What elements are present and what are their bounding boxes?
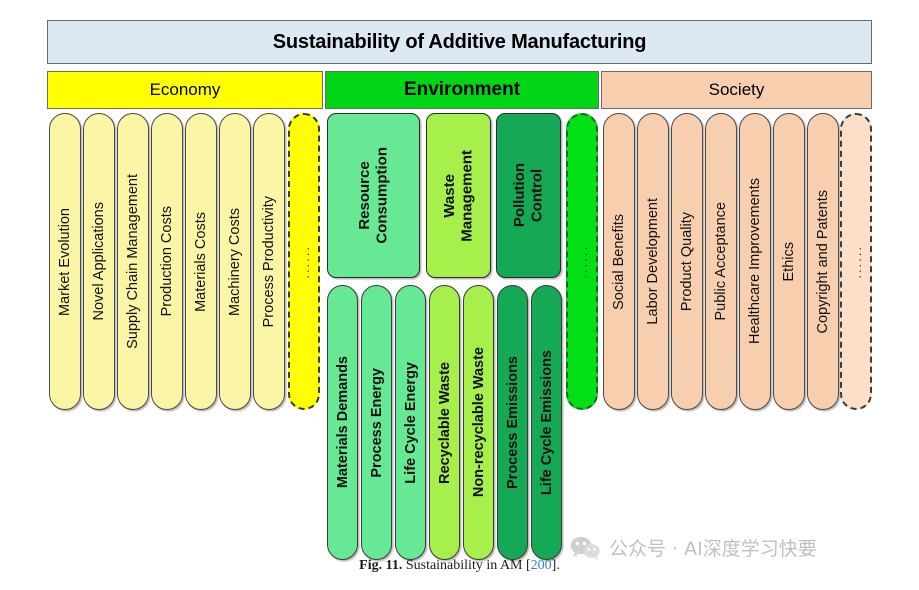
figure-caption-suffix: ]. (552, 558, 560, 573)
society-item: Healthcare Improvements (739, 113, 771, 410)
pillar-header-environment-label: Environment (404, 79, 520, 101)
environment-item: Recyclable Waste (429, 285, 460, 560)
diagram-title: Sustainability of Additive Manufacturing (273, 31, 647, 54)
environment-item: Life Cycle Energy (395, 285, 426, 560)
society-item: Copyright and Patents (807, 113, 839, 410)
pillar-header-society-label: Society (709, 80, 765, 100)
economy-item: Supply Chain Management (117, 113, 149, 410)
economy-item: Process Productivity (253, 113, 285, 410)
pillar-bodies: Market Evolution Novel Applications Supp… (47, 113, 872, 543)
environment-category-waste-management: Waste Management (426, 113, 491, 278)
watermark-text: 公众号 · AI深度学习快要 (609, 534, 817, 561)
environment-category-resource-consumption: Resource Consumption (327, 113, 420, 278)
economy-item: Market Evolution (49, 113, 81, 410)
society-item: Social Benefits (603, 113, 635, 410)
pillar-headers: Economy Environment Society (47, 71, 872, 109)
figure-caption-text: Sustainability in AM [ (406, 558, 531, 573)
figure-label: Fig. 11. (359, 558, 402, 573)
pillar-header-society: Society (601, 71, 872, 109)
diagram-title-bar: Sustainability of Additive Manufacturing (47, 20, 872, 64)
society-item: Public Acceptance (705, 113, 737, 410)
society-item: Ethics (773, 113, 805, 410)
watermark: 公众号 · AI深度学习快要 (570, 534, 817, 561)
economy-more-items: ...... (288, 113, 320, 410)
environment-item: Life Cycle Emissions (531, 285, 562, 560)
sustainability-diagram: Sustainability of Additive Manufacturing… (47, 20, 872, 540)
environment-item: Process Energy (361, 285, 392, 560)
pillar-header-environment: Environment (325, 71, 599, 109)
economy-item: Materials Costs (185, 113, 217, 410)
economy-item: Production Costs (151, 113, 183, 410)
economy-item: Machinery Costs (219, 113, 251, 410)
economy-item: Novel Applications (83, 113, 115, 410)
environment-item: Process Emissions (497, 285, 528, 560)
environment-item: Non-recyclable Waste (463, 285, 494, 560)
society-more-items: ...... (840, 113, 872, 410)
society-item: Product Quality (671, 113, 703, 410)
wechat-icon (570, 536, 600, 560)
pillar-header-economy: Economy (47, 71, 323, 109)
pillar-header-economy-label: Economy (150, 80, 221, 100)
society-item: Labor Development (637, 113, 669, 410)
environment-more-items: ...... (566, 113, 598, 410)
environment-category-pollution-control: Pollution Control (496, 113, 561, 278)
figure-caption: Fig. 11. Sustainability in AM [200]. (0, 558, 919, 574)
environment-item: Materials Demands (327, 285, 358, 560)
figure-reference-link[interactable]: 200 (531, 558, 552, 573)
